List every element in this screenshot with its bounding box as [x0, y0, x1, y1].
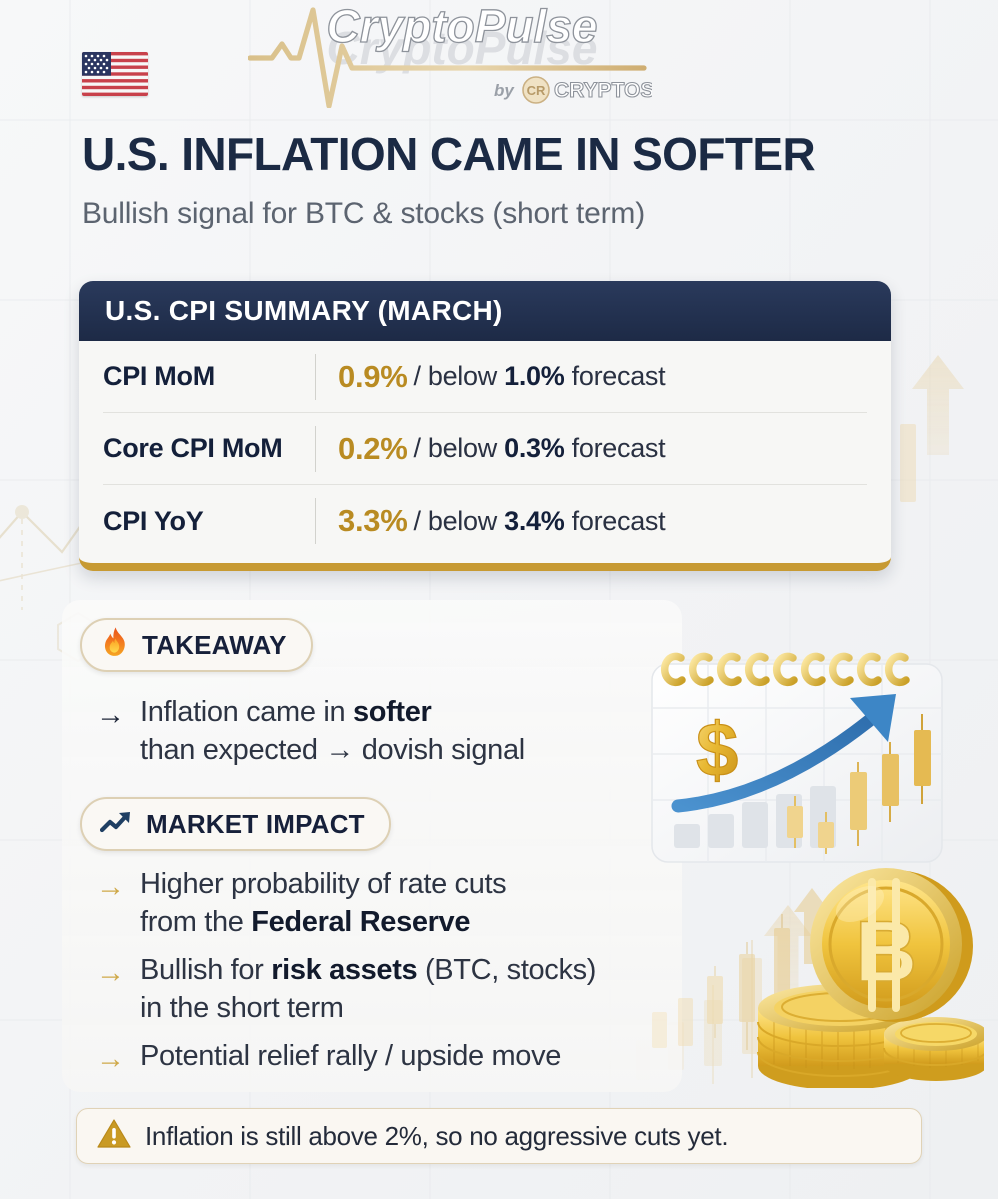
arrow-right-icon: →	[96, 866, 140, 906]
cpi-note-post: forecast	[564, 361, 665, 391]
cpi-note-post: forecast	[564, 506, 665, 536]
takeaway-pill-label: TAKEAWAY	[142, 630, 287, 661]
fire-icon	[100, 626, 130, 665]
bullet-strong: Federal Reserve	[251, 906, 470, 938]
cpi-note-pre: below	[428, 506, 504, 536]
row-divider	[315, 426, 316, 472]
cpi-summary-card: U.S. CPI SUMMARY (MARCH) CPI MoM 0.9% / …	[79, 281, 891, 571]
cpi-note-forecast: 1.0%	[504, 361, 564, 391]
takeaway-line1-strong: softer	[353, 696, 431, 728]
table-row: Core CPI MoM 0.2% / below 0.3% forecast	[103, 413, 867, 485]
logo-byline-name: CRYPTOSRUS	[554, 79, 652, 102]
gold-coin-stack-icon	[884, 1017, 984, 1081]
svg-text:CR: CR	[527, 83, 546, 98]
cpi-row-note: / below 0.3% forecast	[413, 433, 665, 464]
bitcoin-coin-icon: B	[810, 868, 973, 1022]
cpi-row-value: 3.3%	[338, 503, 407, 539]
bullet-pre: Bullish for	[140, 954, 271, 986]
trending-up-icon	[100, 809, 134, 840]
svg-text:$: $	[696, 708, 738, 793]
warning-triangle-icon	[97, 1118, 131, 1154]
cpi-row-note: / below 3.4% forecast	[413, 506, 665, 537]
cpi-row-value: 0.2%	[338, 431, 407, 467]
takeaway-pill: TAKEAWAY	[80, 618, 313, 672]
market-impact-bullet-text: Potential relief rally / upside move	[140, 1038, 561, 1076]
cpi-row-label: Core CPI MoM	[103, 433, 315, 464]
takeaway-line2: than expected → dovish signal	[140, 734, 525, 766]
arrow-right-icon: →	[96, 952, 140, 992]
market-impact-bullet: → Potential relief rally / upside move	[96, 1038, 696, 1078]
cpi-card-title: U.S. CPI SUMMARY (MARCH)	[105, 295, 503, 327]
logo-byline-prefix: by	[494, 81, 515, 100]
cpi-row-note: / below 1.0% forecast	[413, 361, 665, 392]
cpi-note-post: forecast	[564, 433, 665, 463]
footer-warning-text: Inflation is still above 2%, so no aggre…	[145, 1121, 728, 1152]
page-title: U.S. INFLATION CAME IN SOFTER	[82, 131, 912, 179]
cpi-note-slash: /	[413, 433, 420, 463]
market-impact-pill: MARKET IMPACT	[80, 797, 391, 851]
cpi-note-pre: below	[428, 433, 504, 463]
logo-wordmark: CryptoPulse	[327, 2, 598, 52]
cpi-card-body: CPI MoM 0.9% / below 1.0% forecast Core …	[79, 341, 891, 557]
cpi-row-label: CPI YoY	[103, 506, 315, 537]
footer-warning-banner: Inflation is still above 2%, so no aggre…	[76, 1108, 922, 1164]
table-row: CPI MoM 0.9% / below 1.0% forecast	[103, 341, 867, 413]
takeaway-bullet: → Inflation came in softerthan expected …	[96, 694, 696, 769]
market-impact-bullet-text: Bullish for risk assets (BTC, stocks) in…	[140, 952, 596, 1027]
cpi-note-slash: /	[413, 506, 420, 536]
cpi-row-label: CPI MoM	[103, 361, 315, 392]
market-impact-pill-label: MARKET IMPACT	[146, 809, 365, 840]
takeaway-line1-pre: Inflation came in	[140, 696, 353, 728]
page-subtitle: Bullish signal for BTC & stocks (short t…	[82, 197, 912, 231]
bullet-pre: Potential relief rally / upside move	[140, 1040, 561, 1072]
cpi-note-forecast: 0.3%	[504, 433, 564, 463]
market-impact-bullet-text: Higher probability of rate cuts from the…	[140, 866, 506, 941]
market-impact-bullet: → Bullish for risk assets (BTC, stocks) …	[96, 952, 696, 1027]
cpi-row-value: 0.9%	[338, 359, 407, 395]
table-row: CPI YoY 3.3% / below 3.4% forecast	[103, 485, 867, 557]
arrow-right-icon: →	[96, 1038, 140, 1078]
crypto-chart-illustration: $	[634, 636, 984, 1088]
bullet-strong: risk assets	[271, 954, 417, 986]
cpi-note-slash: /	[413, 361, 420, 391]
us-flag-icon	[82, 52, 148, 96]
market-impact-bullet: → Higher probability of rate cuts from t…	[96, 866, 696, 941]
cpi-note-pre: below	[428, 361, 504, 391]
cpi-note-forecast: 3.4%	[504, 506, 564, 536]
brand-logo: CryptoPulse CryptoPulse by CR CRYPTOSRUS	[248, 2, 652, 108]
row-divider	[315, 354, 316, 400]
spiral-notepad-chart-icon: $	[652, 656, 942, 862]
cpi-card-header: U.S. CPI SUMMARY (MARCH)	[79, 281, 891, 341]
row-divider	[315, 498, 316, 544]
takeaway-bullet-text: Inflation came in softerthan expected → …	[140, 694, 525, 769]
dollar-sign-icon: $	[696, 708, 738, 793]
arrow-right-icon: →	[96, 694, 140, 734]
